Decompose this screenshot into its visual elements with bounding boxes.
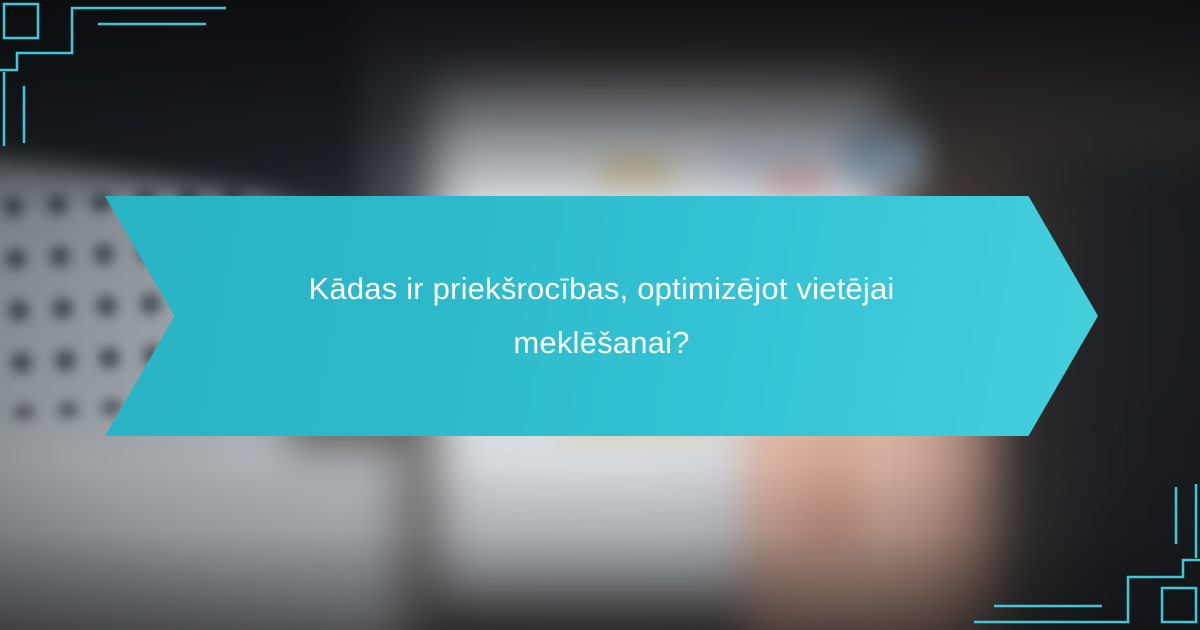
background-top-shade (0, 0, 1200, 214)
share-card-canvas: Kādas ir priekšrocības, optimizējot viet… (0, 0, 1200, 630)
background-bottom-shade (0, 466, 1200, 630)
headline-banner: Kādas ir priekšrocības, optimizējot viet… (105, 196, 1098, 436)
page-title: Kādas ir priekšrocības, optimizējot viet… (255, 262, 948, 371)
